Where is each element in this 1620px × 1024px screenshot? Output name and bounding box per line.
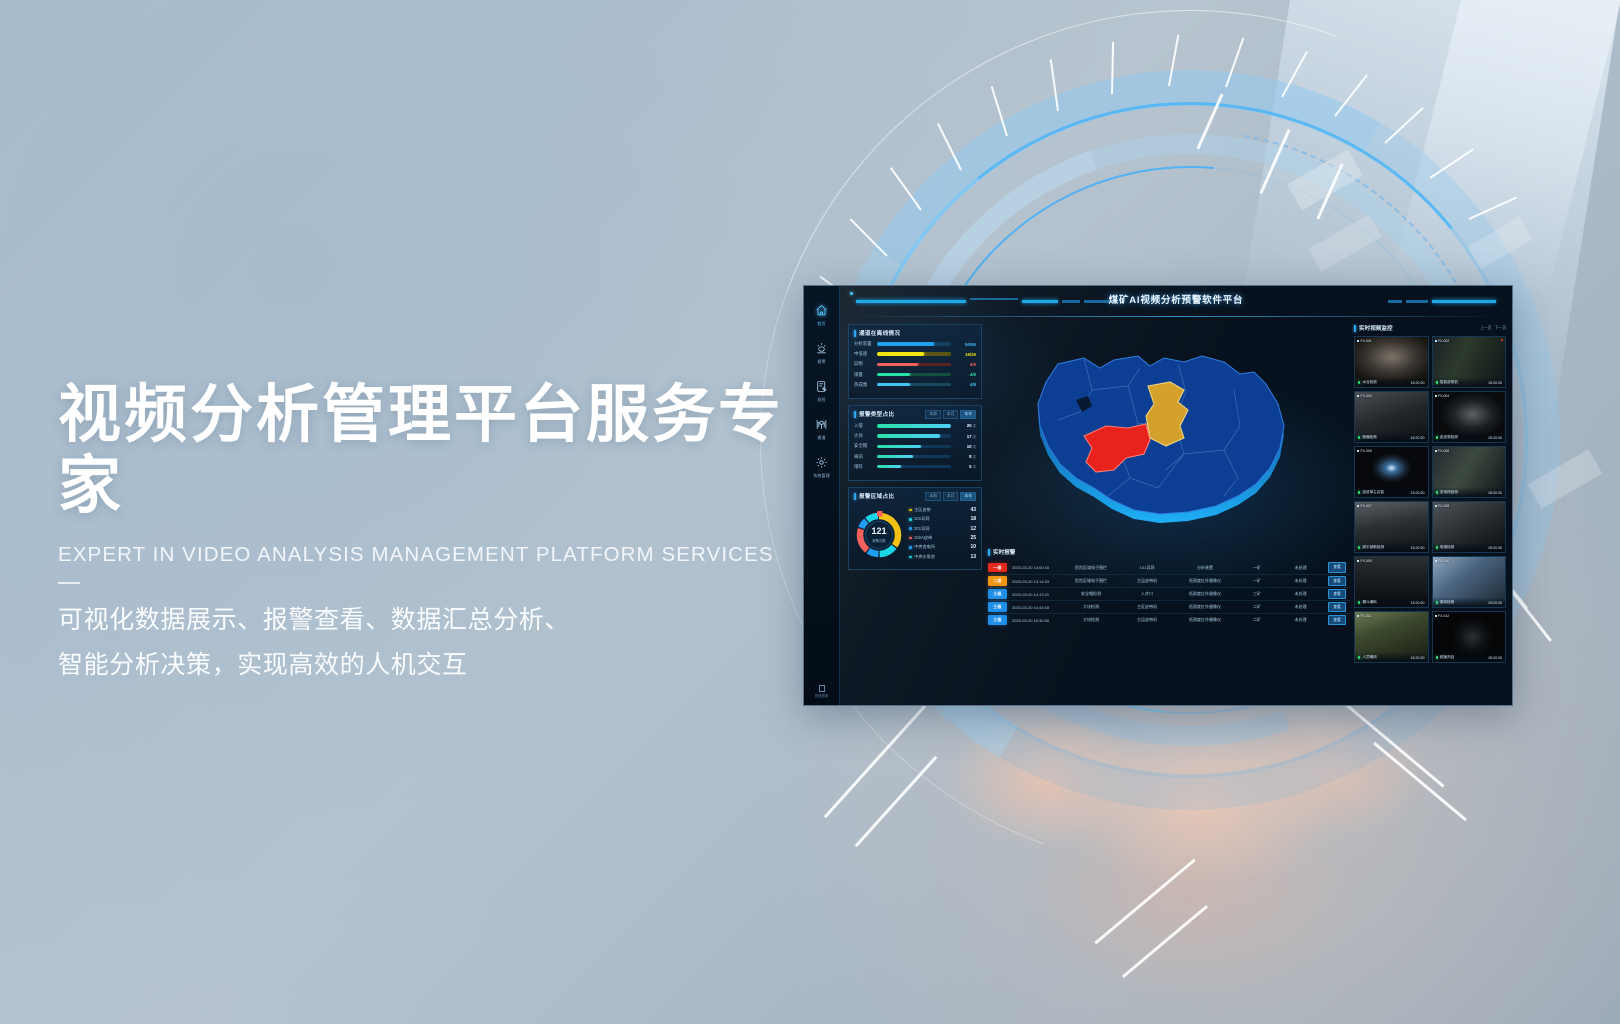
channel-card-header: 通道在离线情况 xyxy=(854,329,976,337)
video-cell[interactable]: FX-012超速判自15:20:30 xyxy=(1432,611,1507,663)
status-badge: 一级 xyxy=(988,563,1007,572)
alarm-device: 分析装置 xyxy=(1173,565,1237,571)
video-name-label: 漏斗堵料 xyxy=(1362,600,1376,605)
online-dot xyxy=(1358,381,1360,383)
video-time: 15:20:30 xyxy=(1411,436,1425,440)
sidebar-item-home[interactable]: 首页 xyxy=(805,304,839,327)
donut-total: 121 xyxy=(871,527,886,536)
alarm-status: 未处理 xyxy=(1277,591,1324,597)
channel-row-fill xyxy=(877,383,910,386)
alarm-time: 2023-03-20 14:43:18 xyxy=(1007,605,1061,610)
realtime-alarm-rows: 一级2023-03-20 13:00:16危险区域电子围栏101导洞分析装置一矿… xyxy=(988,561,1350,626)
video-monitor-panel: 实时视频监控 上一页 下一页 FX-001水仓检测15:20:30FX-002智… xyxy=(1354,324,1506,699)
alarm-area-tab[interactable]: 本月 xyxy=(943,492,959,501)
alarm-time: 2023-03-20 13:14:03 xyxy=(1007,579,1061,584)
camera-id: FX-010 xyxy=(1435,559,1450,563)
video-pagination[interactable]: 上一页 下一页 xyxy=(1480,326,1506,331)
camera-id-label: FX-005 xyxy=(1361,449,1372,453)
video-time: 15:20:30 xyxy=(1411,656,1425,660)
video-name-label: 变电所检测 xyxy=(1440,490,1458,495)
sidebar-item-home-label: 首页 xyxy=(817,321,825,327)
map-svg xyxy=(988,328,1318,548)
channel-row: 分析装置50/65 xyxy=(854,341,976,347)
video-cell[interactable]: FX-006变电所检测15:20:30 xyxy=(1432,446,1507,498)
sidebar-item-alarm[interactable]: 报警 xyxy=(805,342,839,365)
camera-id-label: FX-009 xyxy=(1361,559,1372,563)
alarm-type-tab[interactable]: 本年 xyxy=(960,410,976,419)
donut-legend-item[interactable]: 102A皮带25 xyxy=(909,535,976,541)
alarm-area-tab[interactable]: 本年 xyxy=(960,492,976,501)
video-name: 跑偏检测 xyxy=(1358,435,1377,440)
alarm-type-label: 入侵 xyxy=(854,423,874,429)
clipboard-edit-icon xyxy=(815,380,828,395)
alarm-type-fill xyxy=(877,434,940,437)
alarm-channel: 入井口 xyxy=(1121,591,1173,597)
video-footer: 智能皮带机15:20:30 xyxy=(1433,378,1506,387)
camera-icon xyxy=(1357,615,1359,617)
alarm-action[interactable]: 查看 xyxy=(1324,602,1350,612)
legend-value: 13 xyxy=(970,554,976,560)
prev-page-button[interactable]: 上一页 xyxy=(1480,326,1491,331)
legend-dot xyxy=(909,518,912,521)
video-cell[interactable]: FX-010离岗检测15:20:30 xyxy=(1432,556,1507,608)
alarm-device: 低照度红外摄像仪 xyxy=(1173,591,1237,597)
realtime-alarm-header: 实时报警 xyxy=(988,548,1350,556)
video-footer: 离岗检测15:20:30 xyxy=(1433,598,1506,607)
channel-row: 煤量4/9 xyxy=(854,372,976,378)
alarm-area-card: 报警区域占比 本周本月本年 121 报警次数 主区皮带43101导洞1820 xyxy=(848,487,982,570)
video-name-label: 跑偏检测 xyxy=(1362,435,1376,440)
alarm-type-tab[interactable]: 本周 xyxy=(925,410,941,419)
alarm-action[interactable]: 查看 xyxy=(1324,589,1350,599)
page-title: 视频分析管理平台服务专家 xyxy=(58,380,848,521)
channel-status-card: 通道在离线情况 分析装置50/65中低速16/25异物5/9煤量4/9热成像4/… xyxy=(848,324,982,399)
video-time: 15:20:30 xyxy=(1488,491,1502,495)
video-name: 超速判自 xyxy=(1436,655,1455,660)
legend-label: 中央水泵房 xyxy=(914,554,968,560)
dashboard-sidebar: 首页 报警 巡检 xyxy=(804,286,840,705)
channel-row-fill xyxy=(877,373,910,376)
video-name: 堆煤检测 xyxy=(1436,545,1455,550)
donut-legend-item[interactable]: 中央变电所10 xyxy=(909,544,976,550)
alarm-area-card-title: 报警区域占比 xyxy=(859,492,894,500)
camera-icon xyxy=(1357,560,1359,562)
alarm-mine: 三矿 xyxy=(1237,591,1277,597)
camera-icon xyxy=(1435,615,1437,617)
view-button[interactable]: 查看 xyxy=(1328,576,1346,586)
accent-bar xyxy=(854,411,856,418)
video-footer: 水仓检测15:20:30 xyxy=(1355,378,1428,387)
channel-row-fill xyxy=(877,342,934,345)
online-dot xyxy=(1358,491,1360,493)
legend-dot xyxy=(909,527,912,530)
camera-icon xyxy=(1435,450,1437,452)
status-badge: 三级 xyxy=(988,602,1007,611)
alarm-type-card-header: 报警类型占比 本周本月本年 xyxy=(854,410,976,419)
online-dot xyxy=(1358,601,1360,603)
camera-id: FX-012 xyxy=(1435,614,1450,618)
channel-row-track xyxy=(877,342,951,345)
camera-icon xyxy=(1357,395,1359,397)
alarm-device: 低照度红外摄像仪 xyxy=(1173,617,1237,623)
status-badge: 三级 xyxy=(988,615,1007,624)
alarm-type-track xyxy=(877,445,951,448)
online-dot xyxy=(1436,601,1438,603)
realtime-alarm-title: 实时报警 xyxy=(993,548,1015,556)
legend-label: 101导洞 xyxy=(914,516,968,522)
video-cell[interactable]: FX-002智能皮带机15:20:30 xyxy=(1432,336,1507,388)
video-name: 水仓检测 xyxy=(1358,380,1377,385)
alarm-mine: 二矿 xyxy=(1237,617,1277,623)
legend-label: 中央变电所 xyxy=(914,544,968,550)
camera-icon xyxy=(1435,505,1437,507)
alarm-type-fill xyxy=(877,465,901,468)
hero-subtitle: EXPERT IN VIDEO ANALYSIS MANAGEMENT PLAT… xyxy=(58,543,848,567)
alarm-type-track xyxy=(877,465,951,468)
table-row: 三级2023-03-20 14:43:18大块检测主区皮带机低照度红外摄像仪二矿… xyxy=(988,600,1350,613)
video-time: 15:20:30 xyxy=(1488,656,1502,660)
header-seg-3 xyxy=(1022,300,1058,303)
legend-value: 43 xyxy=(970,507,976,513)
channel-row-track xyxy=(877,373,951,376)
alarm-type-value: 17次 xyxy=(954,434,976,439)
video-name: 超平部断检测 xyxy=(1358,545,1384,550)
video-time: 15:20:30 xyxy=(1488,436,1502,440)
channel-row-fill xyxy=(877,352,924,355)
video-cell[interactable]: FX-005连班单主合智15:20:30 xyxy=(1354,446,1429,498)
legend-dot xyxy=(909,537,912,540)
donut-legend: 主区皮带43101导洞18201导洞12102A皮带25中央变电所10中央水泵房… xyxy=(909,507,976,563)
alarm-action[interactable]: 查看 xyxy=(1324,615,1350,625)
table-row: 三级2023-03-20 14:13:21安全帽检测入井口低照度红外摄像仪三矿未… xyxy=(988,587,1350,600)
hero-desc-line1: 可视化数据展示、报警查看、数据汇总分析、 xyxy=(58,598,848,643)
channel-row-fill xyxy=(877,363,918,366)
accent-bar xyxy=(854,493,856,500)
video-time: 15:20:30 xyxy=(1488,601,1502,605)
video-panel-header: 实时视频监控 上一页 下一页 xyxy=(1354,324,1506,332)
donut-legend-item[interactable]: 中央水泵房13 xyxy=(909,554,976,560)
video-name: 皮皮带检测 xyxy=(1436,435,1458,440)
alarm-type-row: 安全帽10次 xyxy=(854,443,976,449)
channel-row-value: 50/65 xyxy=(954,342,976,347)
channel-row-label: 异物 xyxy=(854,361,874,367)
camera-id-label: FX-008 xyxy=(1438,504,1449,508)
sidebar-item-alarm-label: 报警 xyxy=(817,359,825,365)
video-time: 15:20:30 xyxy=(1488,546,1502,550)
sidebar-item-system[interactable]: 系统管理 xyxy=(805,456,839,479)
alarm-type-row: 离岗8次 xyxy=(854,454,976,460)
camera-id: FX-011 xyxy=(1357,614,1371,618)
dashboard-header: 煤矿AI视频分析预警软件平台 xyxy=(840,286,1512,322)
alarm-type: 危险区域电子围栏 xyxy=(1061,578,1121,584)
donut-legend-item[interactable]: 201导洞12 xyxy=(909,526,976,532)
video-panel-title: 实时视频监控 xyxy=(1359,324,1393,332)
alarm-channel: 主区皮带机 xyxy=(1121,604,1173,610)
table-row: 三级2023-03-20 15:30:00大块检测主运皮带机低照度红外摄像仪二矿… xyxy=(988,613,1350,626)
dashboard-main: 煤矿AI视频分析预警软件平台 通道在离线情况 分析装置50/65中低速16/25… xyxy=(840,286,1512,705)
video-cell[interactable]: FX-007超平部断检测15:20:30 xyxy=(1354,501,1429,553)
alarm-device: 低照度红外摄像仪 xyxy=(1173,604,1237,610)
video-time: 15:20:30 xyxy=(1411,381,1425,385)
table-row: 一级2023-03-20 13:00:16危险区域电子围栏101导洞分析装置一矿… xyxy=(988,561,1350,574)
video-time: 15:20:30 xyxy=(1488,381,1502,385)
video-cell[interactable]: FX-008堆煤检测15:20:30 xyxy=(1432,501,1507,553)
camera-id: FX-001 xyxy=(1357,339,1372,343)
sidebar-item-channel-label: 通道 xyxy=(817,435,825,441)
alarm-action[interactable]: 查看 xyxy=(1324,576,1350,586)
camera-id: FX-009 xyxy=(1357,559,1372,563)
video-footer: 跑偏检测15:20:30 xyxy=(1355,433,1428,442)
status-badge: 三级 xyxy=(988,589,1007,598)
alarm-type-row: 大块17次 xyxy=(854,433,976,439)
camera-id-label: FX-012 xyxy=(1438,614,1449,618)
header-underline xyxy=(846,316,1506,317)
video-name-label: 水仓检测 xyxy=(1362,380,1376,385)
online-dot xyxy=(1436,656,1438,658)
camera-id-label: FX-002 xyxy=(1438,339,1449,343)
video-name: 漏斗堵料 xyxy=(1358,600,1377,605)
alarm-type-value: 10次 xyxy=(954,444,976,449)
legend-value: 10 xyxy=(970,544,976,550)
alarm-type-card: 报警类型占比 本周本月本年 入侵20次大块17次安全帽10次离岗8次堵料5次 xyxy=(848,405,982,481)
camera-id-label: FX-007 xyxy=(1361,504,1372,508)
donut-total-caption: 报警次数 xyxy=(872,538,886,543)
alarm-type-card-title: 报警类型占比 xyxy=(859,410,894,418)
camera-icon xyxy=(1435,395,1437,397)
alarm-time: 2023-03-20 15:30:00 xyxy=(1007,618,1061,623)
hero-text-block: 视频分析管理平台服务专家 EXPERT IN VIDEO ANALYSIS MA… xyxy=(58,380,848,687)
legend-dot xyxy=(909,546,912,549)
camera-icon xyxy=(1435,340,1437,342)
video-name-label: 超平部断检测 xyxy=(1362,545,1384,550)
video-name-label: 智能皮带机 xyxy=(1440,380,1458,385)
video-name: 智能皮带机 xyxy=(1436,380,1458,385)
alarm-type-fill xyxy=(877,445,921,448)
video-name-label: 离岗检测 xyxy=(1440,600,1454,605)
alarm-type: 大块检测 xyxy=(1061,604,1121,610)
video-cell[interactable]: FX-011人员睡岗15:20:30 xyxy=(1354,611,1429,663)
alarm-type-value: 8次 xyxy=(954,454,976,459)
view-button[interactable]: 查看 xyxy=(1328,602,1346,612)
channel-row-track xyxy=(877,383,951,386)
alarm-mine: 二矿 xyxy=(1237,604,1277,610)
alarm-area-tab[interactable]: 本周 xyxy=(925,492,941,501)
channel-icon xyxy=(815,418,828,433)
channel-row-label: 煤量 xyxy=(854,372,874,378)
alarm-time: 2023-03-20 13:00:16 xyxy=(1007,565,1061,570)
dashboard-screen: 首页 报警 巡检 xyxy=(804,286,1512,705)
alarm-mine: 一矿 xyxy=(1237,565,1277,571)
camera-id: FX-005 xyxy=(1357,449,1372,453)
channel-row-track xyxy=(877,352,951,355)
camera-id: FX-008 xyxy=(1435,504,1450,508)
alarm-type-value: 20次 xyxy=(954,423,976,428)
sidebar-footer-label: 在线咨询 xyxy=(815,693,829,698)
alarm-type-fill xyxy=(877,455,913,458)
channel-row: 热成像4/9 xyxy=(854,382,976,388)
alarm-type-fill xyxy=(877,424,951,427)
view-button[interactable]: 查看 xyxy=(1328,615,1346,625)
channel-row-track xyxy=(877,363,951,366)
alarm-type-track xyxy=(877,424,951,427)
donut-legend-item[interactable]: 主区皮带43 xyxy=(909,507,976,513)
alarm-area-chart: 121 报警次数 主区皮带43101导洞18201导洞12102A皮带25中央变… xyxy=(854,505,976,563)
alarm-channel: 101导洞 xyxy=(1121,565,1173,571)
gear-icon xyxy=(815,456,828,471)
alarm-area-tabs[interactable]: 本周本月本年 xyxy=(925,492,976,501)
accent-bar xyxy=(988,549,990,556)
online-dot xyxy=(1436,436,1438,438)
camera-id-label: FX-003 xyxy=(1361,394,1372,398)
alarm-type-rows: 入侵20次大块17次安全帽10次离岗8次堵料5次 xyxy=(854,423,976,470)
channel-card-title: 通道在离线情况 xyxy=(859,329,900,337)
video-footer: 连班单主合智15:20:30 xyxy=(1355,488,1428,497)
alarm-light-icon xyxy=(815,342,828,357)
sidebar-footer[interactable]: 在线咨询 xyxy=(815,685,829,698)
video-cell[interactable]: FX-001水仓检测15:20:30 xyxy=(1354,336,1429,388)
online-dot xyxy=(1436,491,1438,493)
video-cell[interactable]: FX-003跑偏检测15:20:30 xyxy=(1354,391,1429,443)
alarm-device: 低照度红外摄像仪 xyxy=(1173,578,1237,584)
video-footer: 皮皮带检测15:20:30 xyxy=(1433,433,1506,442)
view-button[interactable]: 查看 xyxy=(1328,562,1346,572)
donut-chart: 121 报警次数 xyxy=(854,510,904,560)
sidebar-item-channel[interactable]: 通道 xyxy=(805,418,839,441)
header-seg-6 xyxy=(1432,300,1496,303)
online-dot xyxy=(1358,546,1360,548)
alarm-mine: 一矿 xyxy=(1237,578,1277,584)
legend-dot xyxy=(909,556,912,559)
video-time: 15:20:30 xyxy=(1411,601,1425,605)
status-badge: 二级 xyxy=(988,576,1007,585)
left-panel-column: 通道在离线情况 分析装置50/65中低速16/25异物5/9煤量4/9热成像4/… xyxy=(848,324,982,576)
header-seg-1 xyxy=(856,300,966,303)
alarm-area-card-header: 报警区域占比 本周本月本年 xyxy=(854,492,976,501)
camera-id-label: FX-011 xyxy=(1361,614,1372,618)
accent-bar xyxy=(1354,325,1356,332)
alarm-status: 未处理 xyxy=(1277,578,1324,584)
video-name-label: 人员睡岗 xyxy=(1362,655,1376,660)
legend-label: 201导洞 xyxy=(914,526,968,532)
header-seg-8 xyxy=(1388,300,1402,303)
video-cell[interactable]: FX-009漏斗堵料15:20:30 xyxy=(1354,556,1429,608)
camera-icon xyxy=(1357,340,1359,342)
next-page-button[interactable]: 下一页 xyxy=(1495,326,1506,331)
channel-row: 异物5/9 xyxy=(854,361,976,367)
header-seg-2 xyxy=(970,298,1018,300)
alarm-status: 未处理 xyxy=(1277,604,1324,610)
header-dot xyxy=(850,292,853,295)
video-footer: 超速判自15:20:30 xyxy=(1433,653,1506,662)
channel-row-label: 分析装置 xyxy=(854,341,874,347)
realtime-alarm-panel: 实时报警 一级2023-03-20 13:00:16危险区域电子围栏101导洞分… xyxy=(988,548,1350,626)
donut-center: 121 报警次数 xyxy=(865,521,893,549)
channel-row-label: 热成像 xyxy=(854,382,874,388)
video-footer: 人员睡岗15:20:30 xyxy=(1355,653,1428,662)
alarm-action[interactable]: 查看 xyxy=(1324,562,1350,572)
camera-id: FX-002 xyxy=(1435,339,1450,343)
alarm-type-label: 堵料 xyxy=(854,464,874,470)
table-row: 二级2023-03-20 13:14:03危险区域电子围栏主运皮带机低照度红外摄… xyxy=(988,574,1350,587)
province-map[interactable] xyxy=(988,328,1318,548)
channel-row-value: 5/9 xyxy=(954,362,976,367)
legend-label: 102A皮带 xyxy=(914,535,968,541)
legend-value: 25 xyxy=(970,535,976,541)
dashboard-title: 煤矿AI视频分析预警软件平台 xyxy=(1109,292,1244,306)
monitor-frame: 首页 报警 巡检 xyxy=(803,285,1513,706)
channel-row-value: 4/9 xyxy=(954,382,976,387)
header-seg-7 xyxy=(1406,300,1428,303)
alarm-type-label: 安全帽 xyxy=(854,443,874,449)
video-name-label: 超速判自 xyxy=(1440,655,1454,660)
video-grid: FX-001水仓检测15:20:30FX-002智能皮带机15:20:30FX-… xyxy=(1354,336,1506,663)
alarm-type: 危险区域电子围栏 xyxy=(1061,565,1121,571)
video-name: 连班单主合智 xyxy=(1358,490,1384,495)
video-footer: 漏斗堵料15:20:30 xyxy=(1355,598,1428,607)
alarm-type-tab[interactable]: 本月 xyxy=(943,410,959,419)
channel-row: 中低速16/25 xyxy=(854,351,976,357)
video-cell[interactable]: FX-004皮皮带检测15:20:30 xyxy=(1432,391,1507,443)
alarm-type-tabs[interactable]: 本周本月本年 xyxy=(925,410,976,419)
map-highlight-yellow[interactable] xyxy=(1146,382,1188,446)
alarm-status: 未处理 xyxy=(1277,565,1324,571)
alarm-status: 未处理 xyxy=(1277,617,1324,623)
legend-dot xyxy=(909,509,912,512)
camera-icon xyxy=(1357,505,1359,507)
online-dot xyxy=(1358,656,1360,658)
camera-id: FX-006 xyxy=(1435,449,1450,453)
hero-desc-line2: 智能分析决策，实现高效的人机交互 xyxy=(58,643,848,688)
video-time: 15:20:30 xyxy=(1411,546,1425,550)
consult-icon xyxy=(819,685,825,692)
camera-icon xyxy=(1435,560,1437,562)
header-seg-5 xyxy=(1084,300,1110,303)
video-footer: 变电所检测15:20:30 xyxy=(1433,488,1506,497)
alarm-time: 2023-03-20 14:13:21 xyxy=(1007,592,1061,597)
camera-id-label: FX-010 xyxy=(1438,559,1449,563)
sidebar-item-inspection-label: 巡检 xyxy=(817,397,825,403)
channel-row-label: 中低速 xyxy=(854,351,874,357)
channel-rows: 分析装置50/65中低速16/25异物5/9煤量4/9热成像4/9 xyxy=(854,341,976,388)
view-button[interactable]: 查看 xyxy=(1328,589,1346,599)
donut-marker xyxy=(877,511,883,517)
alarm-type-track xyxy=(877,434,951,437)
donut-legend-item[interactable]: 101导洞18 xyxy=(909,516,976,522)
alarm-type-label: 大块 xyxy=(854,433,874,439)
video-name: 人员睡岗 xyxy=(1358,655,1377,660)
legend-value: 12 xyxy=(970,526,976,532)
alarm-type-row: 入侵20次 xyxy=(854,423,976,429)
alarm-channel: 主运皮带机 xyxy=(1121,578,1173,584)
video-footer: 超平部断检测15:20:30 xyxy=(1355,543,1428,552)
alarm-type-track xyxy=(877,455,951,458)
sidebar-item-inspection[interactable]: 巡检 xyxy=(805,380,839,403)
legend-value: 18 xyxy=(970,516,976,522)
camera-id: FX-007 xyxy=(1357,504,1372,508)
alarm-type: 安全帽检测 xyxy=(1061,591,1121,597)
camera-id-label: FX-006 xyxy=(1438,449,1449,453)
accent-bar xyxy=(854,330,856,337)
alarm-type-row: 堵料5次 xyxy=(854,464,976,470)
camera-id-label: FX-004 xyxy=(1438,394,1449,398)
sidebar-item-system-label: 系统管理 xyxy=(813,473,830,479)
video-name-label: 皮皮带检测 xyxy=(1440,435,1458,440)
legend-label: 主区皮带 xyxy=(914,507,968,513)
video-footer: 堆煤检测15:20:30 xyxy=(1433,543,1506,552)
online-dot xyxy=(1436,381,1438,383)
camera-id: FX-004 xyxy=(1435,394,1450,398)
channel-row-value: 4/9 xyxy=(954,372,976,377)
